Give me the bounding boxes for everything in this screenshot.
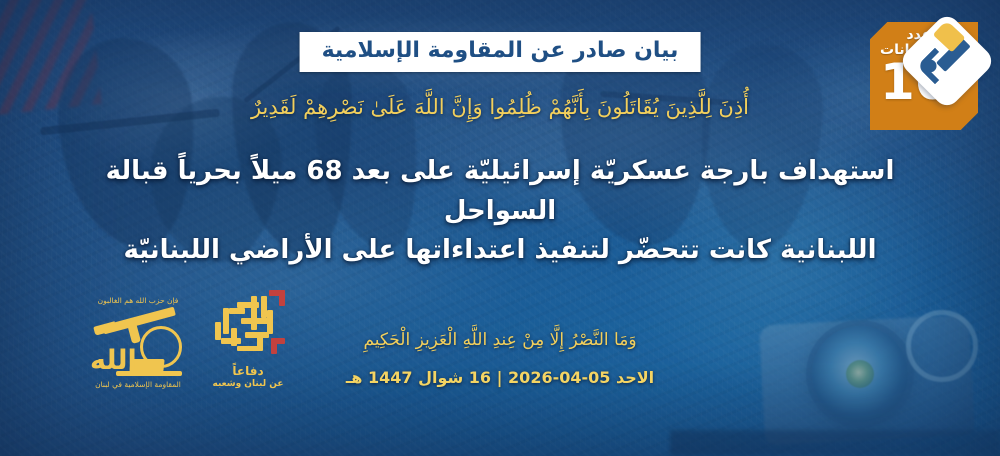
party-emblem-baseline bbox=[116, 371, 182, 376]
party-emblem-bottom-text: المقاومة الإسلامية في لبنان bbox=[86, 380, 190, 389]
header-banner: بيان صادر عن المقاومة الإسلامية bbox=[300, 32, 701, 72]
quran-verse-top: أُذِنَ لِلَّذِينَ يُقَاتَلُونَ بِأَنَّهُ… bbox=[0, 95, 1000, 119]
rifle-globe-emblem-icon: الله bbox=[86, 306, 190, 378]
kufic-calligraphy-icon bbox=[207, 288, 289, 362]
headline-line-1: استهداف بارجة عسكريّة إسرائيليّة على بعد… bbox=[70, 152, 930, 231]
logo-group: دفاعاً عن لبنان وشعبه فإن حزب الله هم ال… bbox=[86, 288, 290, 389]
campaign-caption-line1: دفاعاً bbox=[206, 364, 290, 378]
party-emblem-top-text: فإن حزب الله هم الغالبون bbox=[86, 296, 190, 305]
headline: استهداف بارجة عسكريّة إسرائيليّة على بعد… bbox=[70, 152, 930, 271]
party-emblem-logo: فإن حزب الله هم الغالبون الله المقاومة ا… bbox=[86, 296, 190, 389]
headline-line-2: اللبنانية كانت تتحضّر لتنفيذ اعتداءاتها … bbox=[70, 231, 930, 271]
statement-graphic: بيان صادر عن المقاومة الإسلامية عدد البي… bbox=[0, 0, 1000, 456]
rifle-magazine-icon bbox=[128, 325, 141, 344]
campaign-logo: دفاعاً عن لبنان وشعبه bbox=[206, 288, 290, 389]
header-banner-text: بيان صادر عن المقاومة الإسلامية bbox=[322, 37, 679, 65]
party-emblem-word: الله bbox=[90, 347, 137, 374]
campaign-caption-line2: عن لبنان وشعبه bbox=[206, 379, 290, 389]
